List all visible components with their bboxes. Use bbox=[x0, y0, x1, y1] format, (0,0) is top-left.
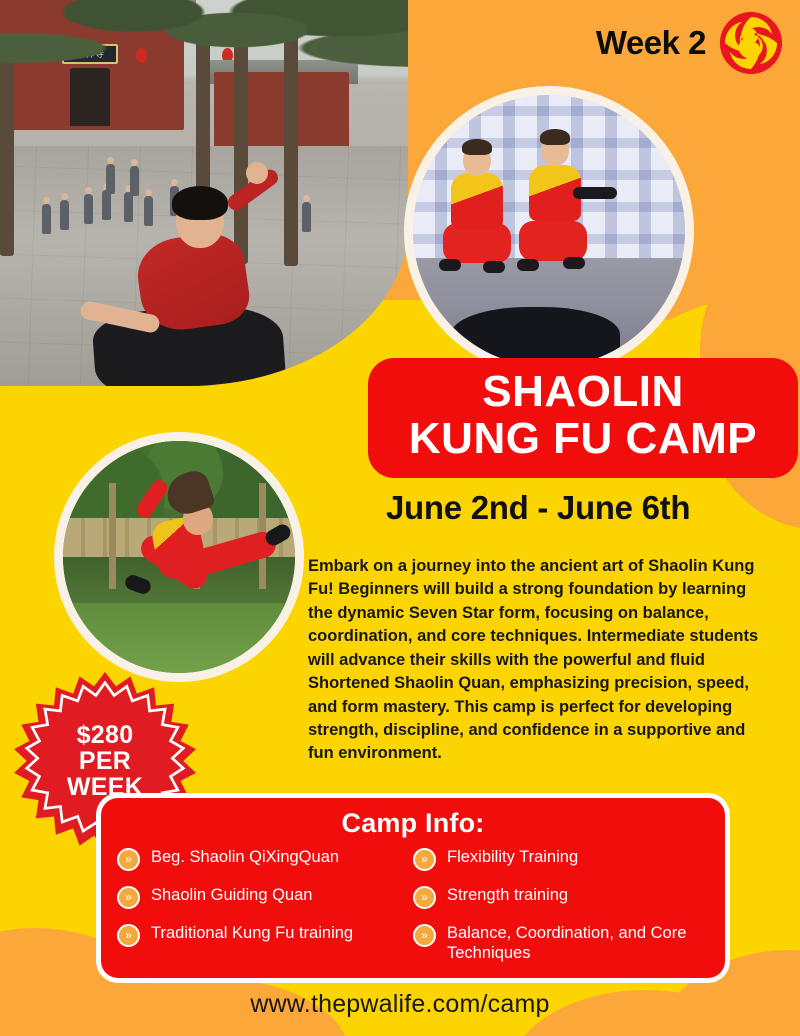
list-item: » Strength training bbox=[413, 885, 709, 909]
chevron-right-icon: » bbox=[413, 886, 436, 909]
title-line-2: KUNG FU CAMP bbox=[386, 417, 780, 462]
chevron-right-icon: » bbox=[117, 886, 140, 909]
list-item: » Traditional Kung Fu training bbox=[117, 923, 413, 947]
camp-info-heading: Camp Info: bbox=[101, 808, 725, 839]
price-amount: $280 bbox=[77, 722, 134, 748]
list-item: » Beg. Shaolin QiXingQuan bbox=[117, 847, 413, 871]
photo-grass bbox=[63, 603, 295, 673]
list-item-label: Shaolin Guiding Quan bbox=[151, 885, 312, 905]
chevron-right-icon: » bbox=[117, 848, 140, 871]
week-badge: Week 2 bbox=[596, 12, 782, 74]
list-item-label: Traditional Kung Fu training bbox=[151, 923, 353, 943]
list-item: » Shaolin Guiding Quan bbox=[117, 885, 413, 909]
list-item-label: Balance, Coordination, and Core Techniqu… bbox=[447, 923, 709, 963]
title-banner: SHAOLIN KUNG FU CAMP bbox=[368, 358, 798, 478]
list-item-label: Strength training bbox=[447, 885, 568, 905]
camp-info-column-right: » Flexibility Training » Strength traini… bbox=[413, 847, 709, 977]
title-line-1: SHAOLIN bbox=[386, 370, 780, 415]
hero-photo-shaolin-temple: 少林寺 bbox=[0, 0, 408, 386]
photo-instructor-hair bbox=[172, 186, 228, 220]
camp-description: Embark on a journey into the ancient art… bbox=[308, 555, 760, 766]
list-item: » Flexibility Training bbox=[413, 847, 709, 871]
camp-info-card: Camp Info: » Beg. Shaolin QiXingQuan » S… bbox=[96, 793, 730, 983]
photo-fence-post bbox=[109, 483, 116, 590]
phoenix-logo bbox=[720, 12, 782, 74]
chevron-right-icon: » bbox=[413, 924, 436, 947]
week-label: Week 2 bbox=[596, 24, 706, 62]
circle-photo-kids-wushu bbox=[404, 86, 694, 376]
footer-website-url[interactable]: www.thepwalife.com/camp bbox=[0, 990, 800, 1019]
photo-tree-canopy bbox=[0, 0, 408, 96]
chevron-right-icon: » bbox=[117, 924, 140, 947]
circle-photo-girl-jump-kick bbox=[54, 432, 304, 682]
chevron-right-icon: » bbox=[413, 848, 436, 871]
list-item-label: Beg. Shaolin QiXingQuan bbox=[151, 847, 339, 867]
poster-canvas: 少林寺 bbox=[0, 0, 800, 1036]
camp-info-columns: » Beg. Shaolin QiXingQuan » Shaolin Guid… bbox=[101, 847, 725, 977]
list-item-label: Flexibility Training bbox=[447, 847, 578, 867]
camp-dates: June 2nd - June 6th bbox=[386, 489, 690, 527]
camp-info-column-left: » Beg. Shaolin QiXingQuan » Shaolin Guid… bbox=[117, 847, 413, 977]
price-per: PER bbox=[79, 748, 131, 774]
list-item: » Balance, Coordination, and Core Techni… bbox=[413, 923, 709, 963]
photo-instructor-hand bbox=[246, 162, 268, 184]
